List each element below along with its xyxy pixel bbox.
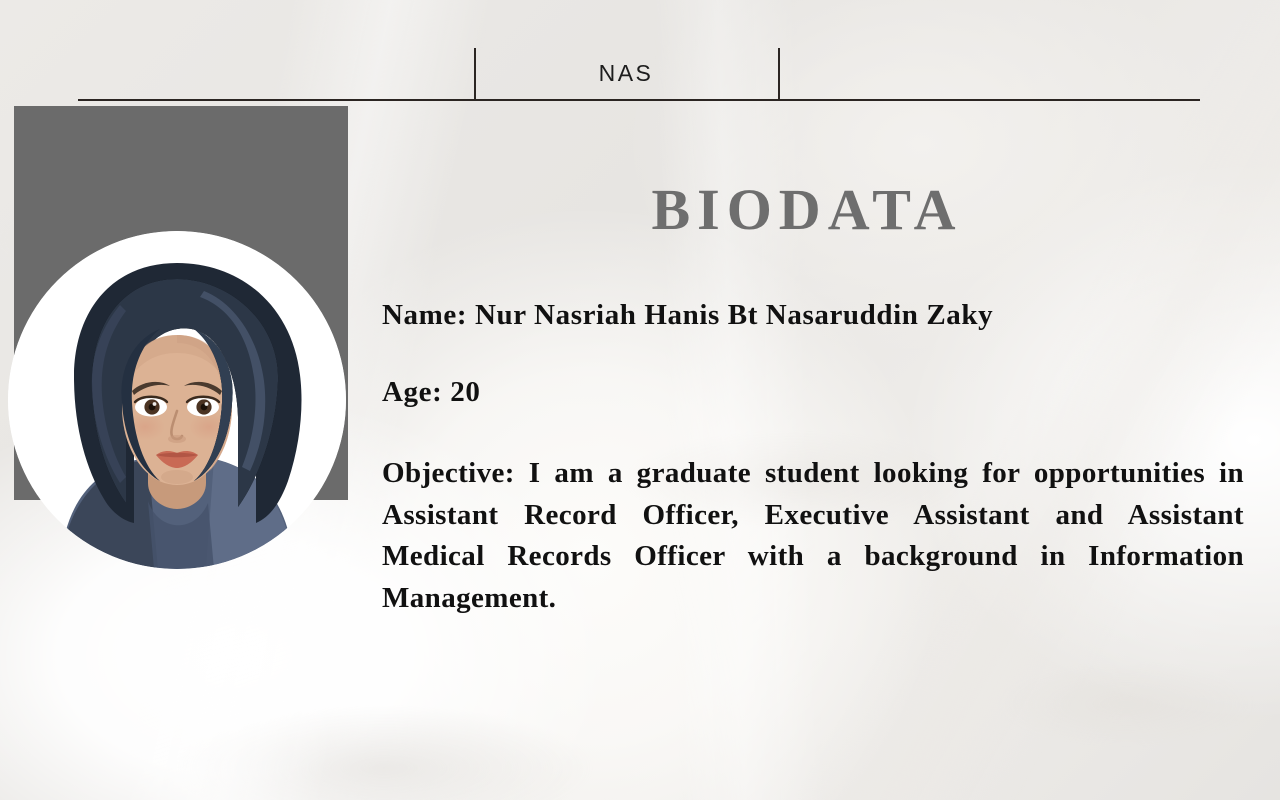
avatar <box>8 231 346 569</box>
page-title: BIODATA <box>382 180 1240 241</box>
field-age: Age: 20 <box>382 376 1240 409</box>
field-name: Name: Nur Nasriah Hanis Bt Nasaruddin Za… <box>382 299 1240 332</box>
field-objective: Objective: I am a graduate student looki… <box>382 453 1244 620</box>
header-horizontal-rule <box>78 99 1200 101</box>
header-divider-right <box>778 48 780 100</box>
brand-initials: NAS <box>474 48 778 98</box>
biodata-content: BIODATA Name: Nur Nasriah Hanis Bt Nasar… <box>382 180 1240 620</box>
biodata-page: NAS <box>0 0 1280 800</box>
